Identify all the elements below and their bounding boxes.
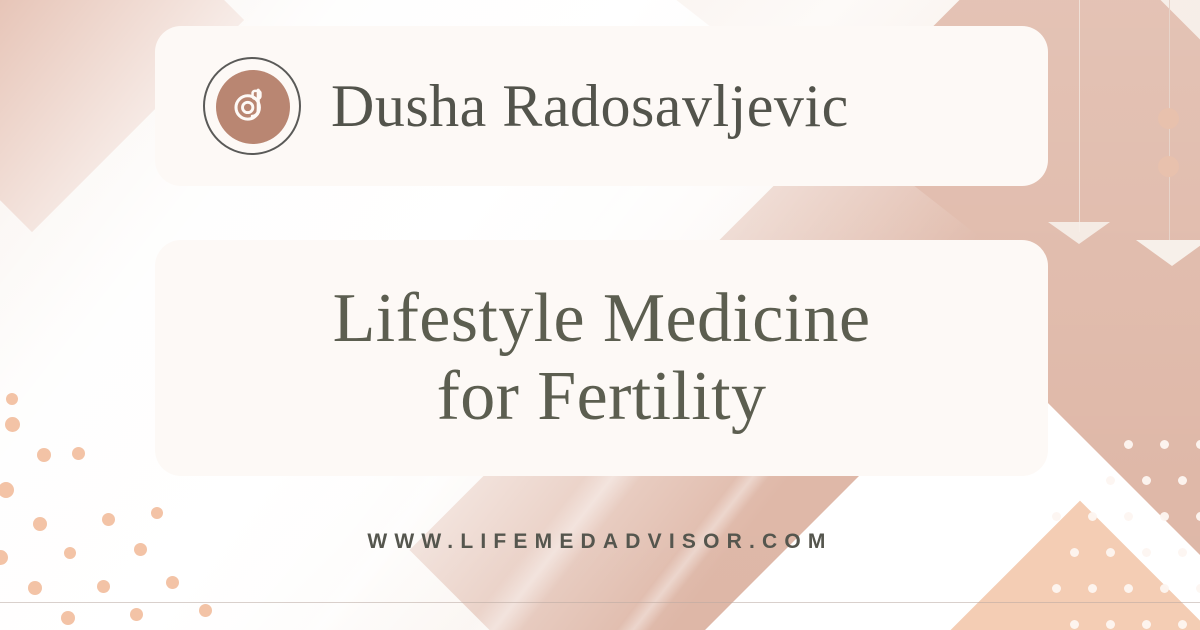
monogram-d-circle-icon — [229, 83, 275, 129]
scatter-dot — [61, 611, 75, 625]
grid-dot — [1070, 620, 1079, 629]
title-line-2: for Fertility — [437, 359, 767, 435]
grid-dot — [1196, 440, 1200, 449]
grid-dot — [1160, 584, 1169, 593]
grid-dot — [1106, 476, 1115, 485]
grid-dot — [1124, 584, 1133, 593]
scatter-dot — [33, 517, 47, 531]
scatter-dot — [5, 417, 20, 432]
vertical-line-chevron — [1136, 240, 1200, 266]
poster-canvas: Dusha Radosavljevic Lifestyle Medicine f… — [0, 0, 1200, 630]
grid-dot — [1160, 440, 1169, 449]
grid-dot — [1052, 512, 1061, 521]
vertical-line-dot — [1158, 108, 1179, 129]
scatter-dot — [130, 608, 143, 621]
scatter-dot — [37, 448, 51, 462]
grid-dot — [1052, 584, 1061, 593]
scatter-dot — [102, 513, 115, 526]
grid-dot — [1142, 476, 1151, 485]
title-line-1: Lifestyle Medicine — [333, 281, 871, 357]
grid-dot — [1196, 584, 1200, 593]
name-card: Dusha Radosavljevic — [155, 26, 1048, 186]
grid-dot — [1160, 512, 1169, 521]
grid-dot — [1088, 512, 1097, 521]
scatter-dot — [6, 393, 18, 405]
brand-logo — [203, 57, 301, 155]
right-chevron — [1048, 222, 1110, 244]
scatter-dot — [199, 604, 212, 617]
bottom-divider-rule — [0, 602, 1200, 603]
website-url: WWW.LIFEMEDADVISOR.COM — [0, 530, 1200, 554]
presenter-name: Dusha Radosavljevic — [331, 76, 849, 136]
vertical-line-dot — [1158, 156, 1179, 177]
grid-dot — [1196, 512, 1200, 521]
scatter-dot — [151, 507, 163, 519]
title-card: Lifestyle Medicine for Fertility — [155, 240, 1048, 476]
grid-dot — [1178, 476, 1187, 485]
scatter-dot — [97, 580, 110, 593]
grid-dot — [1124, 512, 1133, 521]
right-dotted-line-group — [1166, 0, 1174, 266]
grid-dot — [1106, 620, 1115, 629]
grid-dot — [1124, 440, 1133, 449]
right-vertical-rule — [1079, 0, 1080, 232]
scatter-dot — [166, 576, 179, 589]
scatter-dot — [72, 447, 85, 460]
grid-dot — [1178, 620, 1187, 629]
grid-dot — [1088, 584, 1097, 593]
scatter-dot — [28, 581, 42, 595]
grid-dot — [1142, 620, 1151, 629]
